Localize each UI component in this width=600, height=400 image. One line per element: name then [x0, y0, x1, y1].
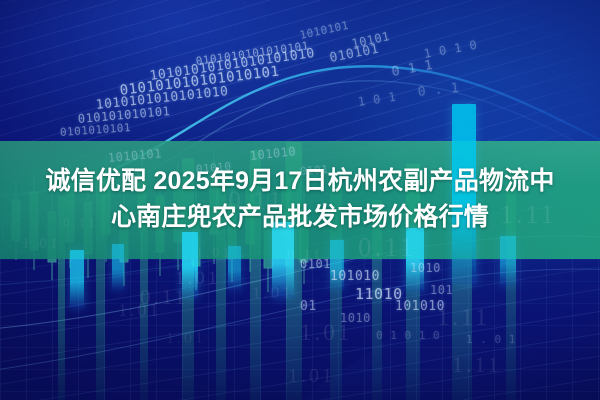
- price-quote-banner: 0101010101010101101010101010101010100101…: [0, 0, 600, 400]
- vignette-overlay: [0, 0, 600, 400]
